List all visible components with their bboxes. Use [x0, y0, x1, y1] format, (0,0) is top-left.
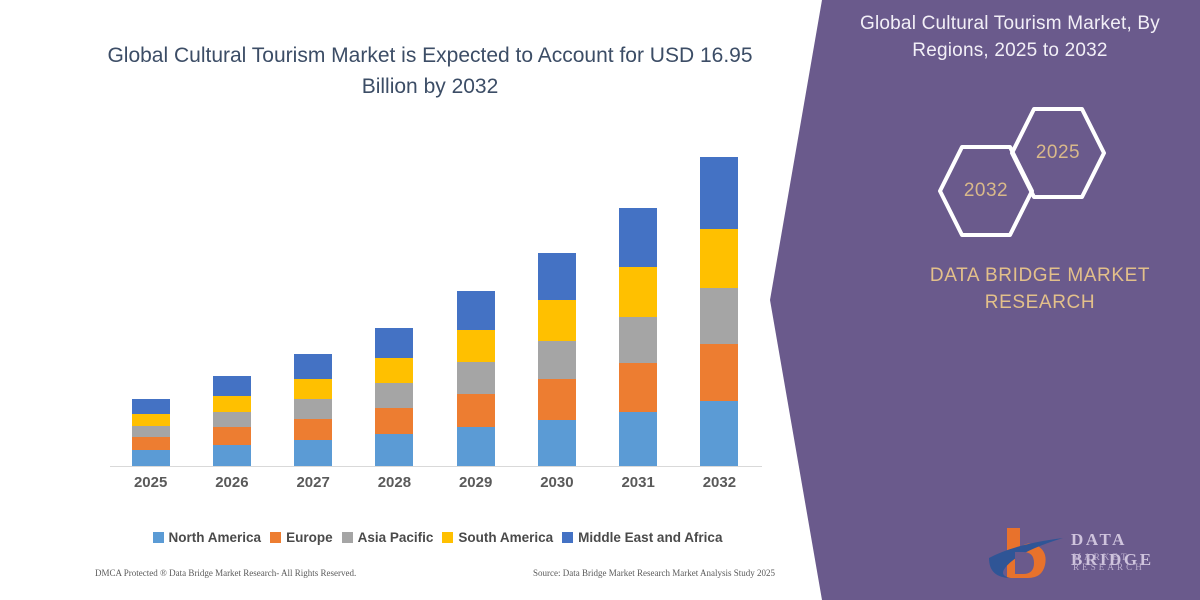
legend-label: North America [169, 530, 262, 545]
panel-title: Global Cultural Tourism Market, By Regio… [835, 10, 1185, 64]
bar-segment [619, 363, 657, 411]
bar-segment [294, 440, 332, 466]
bar-segment [700, 344, 738, 401]
legend-swatch-icon [442, 532, 453, 543]
bar-segment [213, 427, 251, 445]
bar-segment [700, 229, 738, 288]
x-axis-tick-label: 2030 [517, 474, 597, 491]
x-axis-tick-label: 2028 [354, 474, 434, 491]
logo-text-secondary: MARKET RESEARCH [1073, 552, 1190, 572]
bar-segment [700, 401, 738, 466]
x-axis-tick-labels: 20252026202720282029203020312032 [110, 474, 762, 498]
x-axis-tick-label: 2025 [111, 474, 191, 491]
bar-segment [132, 437, 170, 450]
hexagon-end-year-label: 2025 [1036, 142, 1080, 164]
bar-segment [538, 300, 576, 341]
x-axis-line [110, 466, 762, 467]
bar-segment [294, 419, 332, 441]
bar-segment [294, 379, 332, 399]
legend-swatch-icon [153, 532, 164, 543]
legend-item[interactable]: Europe [270, 530, 333, 545]
legend-item[interactable]: Asia Pacific [342, 530, 434, 545]
footer-copyright: DMCA Protected ® Data Bridge Market Rese… [95, 568, 356, 578]
hexagon-badge-end-year: 2025 [1010, 105, 1106, 201]
stacked-bar-chart [110, 140, 760, 466]
bar-segment [538, 420, 576, 466]
hexagon-year-badges: 2032 2025 [930, 105, 1110, 225]
legend-swatch-icon [342, 532, 353, 543]
bar-segment [619, 317, 657, 363]
bar-segment [375, 358, 413, 383]
legend-label: Europe [286, 530, 333, 545]
bar-stack [294, 354, 332, 466]
legend-label: Asia Pacific [358, 530, 434, 545]
bar-segment [294, 399, 332, 419]
legend-item[interactable]: South America [442, 530, 553, 545]
legend-item[interactable]: Middle East and Africa [562, 530, 722, 545]
bar-segment [132, 399, 170, 414]
hexagon-start-year-label: 2032 [964, 180, 1008, 202]
bar-segment [132, 414, 170, 426]
bar-segment [132, 426, 170, 438]
x-axis-tick-label: 2027 [273, 474, 353, 491]
x-axis-tick-label: 2032 [679, 474, 759, 491]
bar-segment [619, 267, 657, 316]
legend-label: Middle East and Africa [578, 530, 722, 545]
bar-segment [375, 383, 413, 408]
bar-segment [538, 341, 576, 380]
bar-stack [457, 291, 495, 466]
company-logo: DATA BRIDGE MARKET RESEARCH [985, 522, 1190, 584]
page-title: Global Cultural Tourism Market is Expect… [80, 40, 780, 102]
bar-segment [619, 208, 657, 267]
bar-segment [213, 412, 251, 428]
bar-segment [375, 408, 413, 435]
bar-segment [457, 330, 495, 363]
infographic-root: Global Cultural Tourism Market is Expect… [0, 0, 1200, 600]
legend-item[interactable]: North America [153, 530, 262, 545]
bar-segment [457, 362, 495, 394]
bar-segment [213, 445, 251, 466]
bar-segment [619, 412, 657, 466]
chart-legend: North AmericaEuropeAsia PacificSouth Ame… [110, 530, 765, 545]
brand-name: DATA BRIDGE MARKET RESEARCH [880, 262, 1200, 316]
bar-segment [132, 450, 170, 466]
footer-source: Source: Data Bridge Market Research Mark… [533, 568, 775, 578]
bar-segment [375, 328, 413, 359]
bar-segment [457, 291, 495, 330]
legend-label: South America [458, 530, 553, 545]
x-axis-tick-label: 2029 [436, 474, 516, 491]
bar-segment [538, 379, 576, 420]
x-axis-tick-label: 2026 [192, 474, 272, 491]
legend-swatch-icon [270, 532, 281, 543]
bar-stack [619, 208, 657, 466]
bar-segment [700, 157, 738, 229]
legend-swatch-icon [562, 532, 573, 543]
bar-stack [375, 328, 413, 466]
bar-segment [213, 376, 251, 396]
footer: DMCA Protected ® Data Bridge Market Rese… [95, 568, 775, 578]
bar-segment [700, 288, 738, 343]
data-bridge-b-logo-icon [985, 522, 1067, 580]
bar-stack [132, 399, 170, 466]
bar-segment [375, 434, 413, 466]
bar-segment [294, 354, 332, 379]
bar-stack [538, 253, 576, 466]
bar-stack [213, 376, 251, 466]
x-axis-tick-label: 2031 [598, 474, 678, 491]
bar-stack [700, 157, 738, 466]
bar-segment [457, 394, 495, 428]
bar-segment [538, 253, 576, 300]
bar-segment [213, 396, 251, 412]
bar-segment [457, 427, 495, 466]
